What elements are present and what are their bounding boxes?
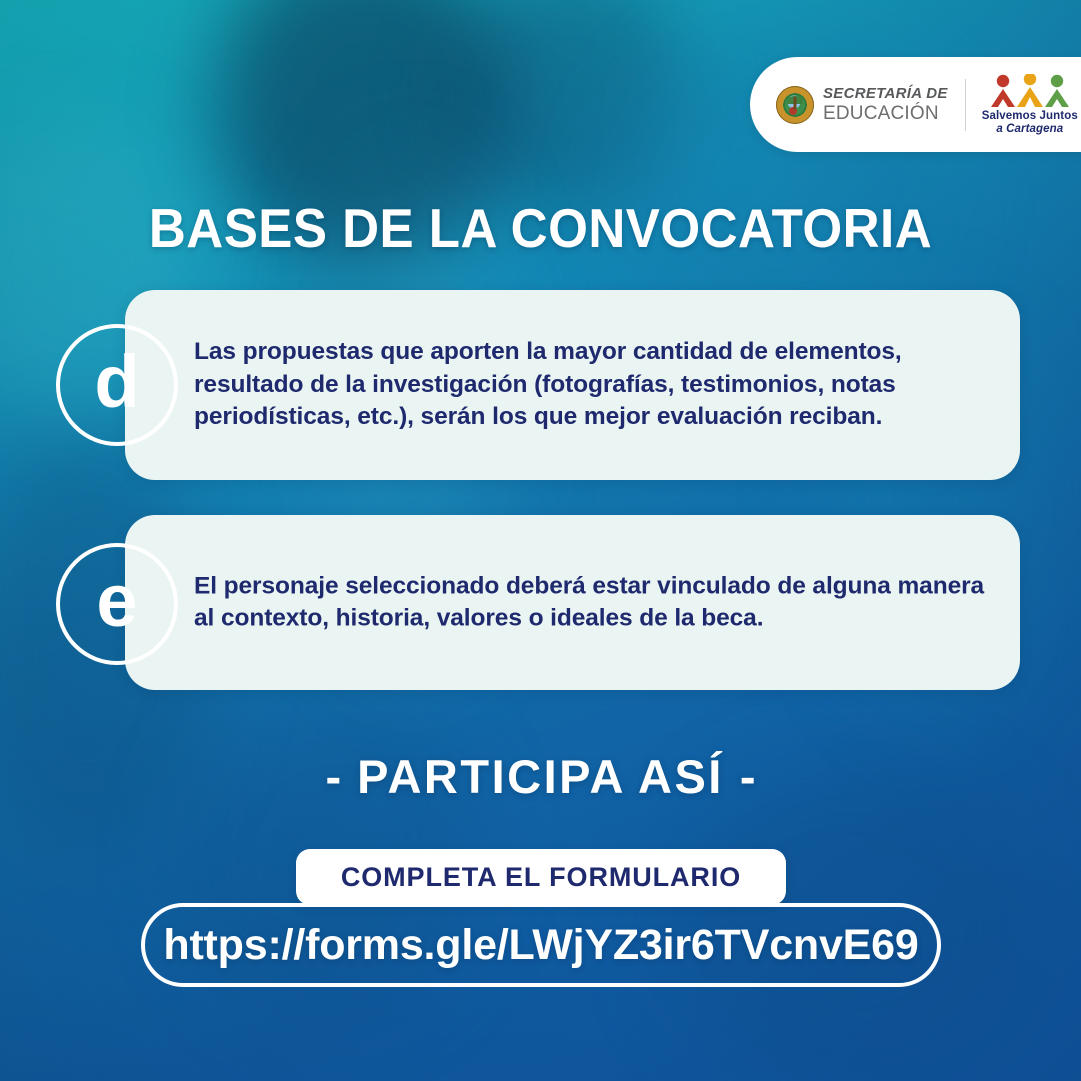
rule-text-d: Las propuestas que aporten la mayor cant…: [194, 336, 988, 434]
secretaria-educacion-logo: SECRETARÍA DE EDUCACIÓN: [750, 86, 948, 124]
three-people-icon: [987, 74, 1073, 108]
poster-canvas: SECRETARÍA DE EDUCACIÓN Salvemos Juntos …: [0, 0, 1081, 1081]
campaign-line-2: a Cartagena: [996, 123, 1063, 135]
campaign-line-1: Salvemos Juntos: [982, 110, 1078, 122]
rule-text-e: El personaje seleccionado deberá estar v…: [194, 570, 988, 635]
participa-label: PARTICIPA ASÍ: [357, 750, 724, 803]
completa-formulario-button[interactable]: COMPLETA EL FORMULARIO: [296, 849, 786, 905]
salvemos-juntos-logo: Salvemos Juntos a Cartagena: [982, 74, 1078, 134]
rule-card-d: Las propuestas que aporten la mayor cant…: [125, 290, 1020, 480]
dash-right: -: [724, 750, 772, 803]
rule-badge-d: d: [56, 324, 178, 446]
participa-heading: -PARTICIPA ASÍ-: [0, 749, 1081, 804]
secretaria-label: SECRETARÍA DE: [823, 86, 948, 101]
page-title: BASES DE LA CONVOCATORIA: [38, 196, 1043, 260]
form-url-link[interactable]: https://forms.gle/LWjYZ3ir6TVcnvE69: [141, 903, 941, 987]
dash-left: -: [309, 750, 357, 803]
rule-card-e: El personaje seleccionado deberá estar v…: [125, 515, 1020, 690]
educacion-label: EDUCACIÓN: [823, 104, 948, 123]
rule-badge-e: e: [56, 543, 178, 665]
cartagena-seal-icon: [776, 86, 814, 124]
logo-divider: [965, 79, 966, 131]
header-logo-bar: SECRETARÍA DE EDUCACIÓN Salvemos Juntos …: [750, 57, 1081, 152]
